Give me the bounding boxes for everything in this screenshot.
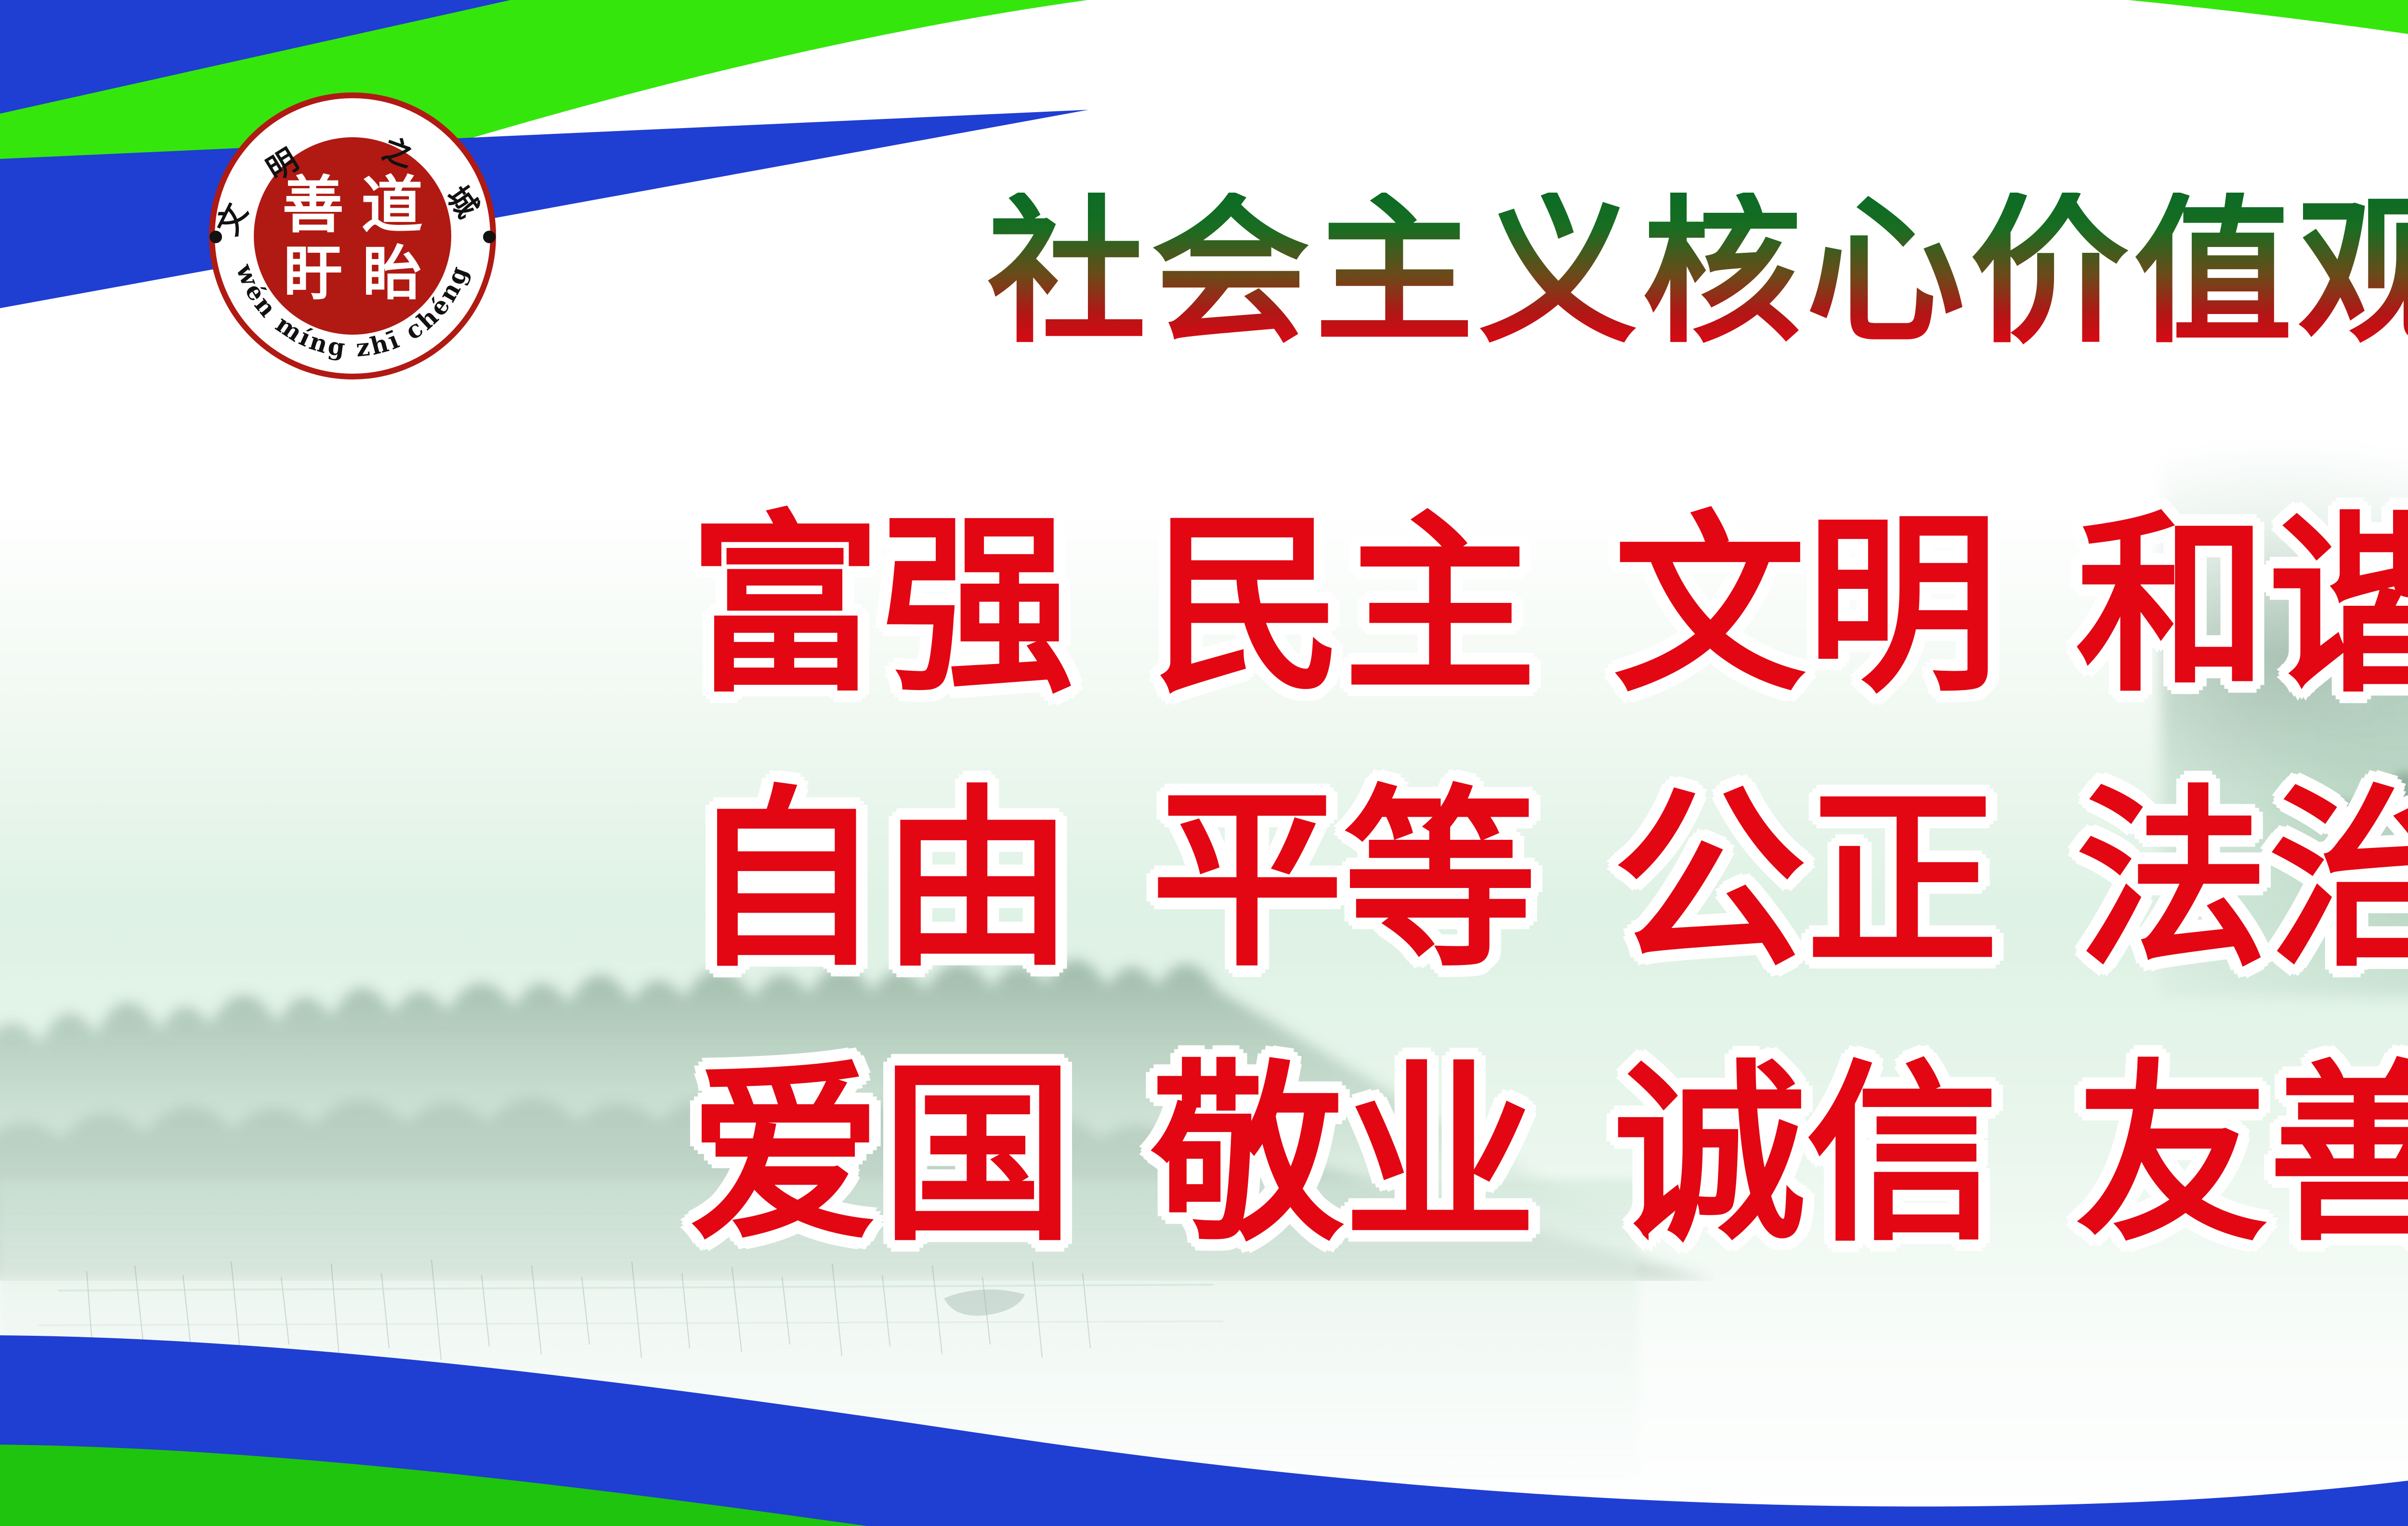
emblem-center-char-4: 眙 xyxy=(363,239,421,308)
emblem-dot-right xyxy=(483,231,496,243)
emblem-center-char-1: 善 xyxy=(282,170,344,241)
emblem-graphic: 文 明 之 城 wén míng zhī chéng 善 道 盱 眙 xyxy=(184,67,521,404)
city-emblem: 文 明 之 城 wén míng zhī chéng 善 道 盱 眙 xyxy=(184,67,521,404)
emblem-center-char-2: 道 xyxy=(361,170,423,241)
emblem-dot-left xyxy=(209,231,222,243)
emblem-center-char-3: 盱 xyxy=(284,239,342,308)
poster-canvas: 文 明 之 城 wén míng zhī chéng 善 道 盱 眙 xyxy=(0,0,2408,1526)
